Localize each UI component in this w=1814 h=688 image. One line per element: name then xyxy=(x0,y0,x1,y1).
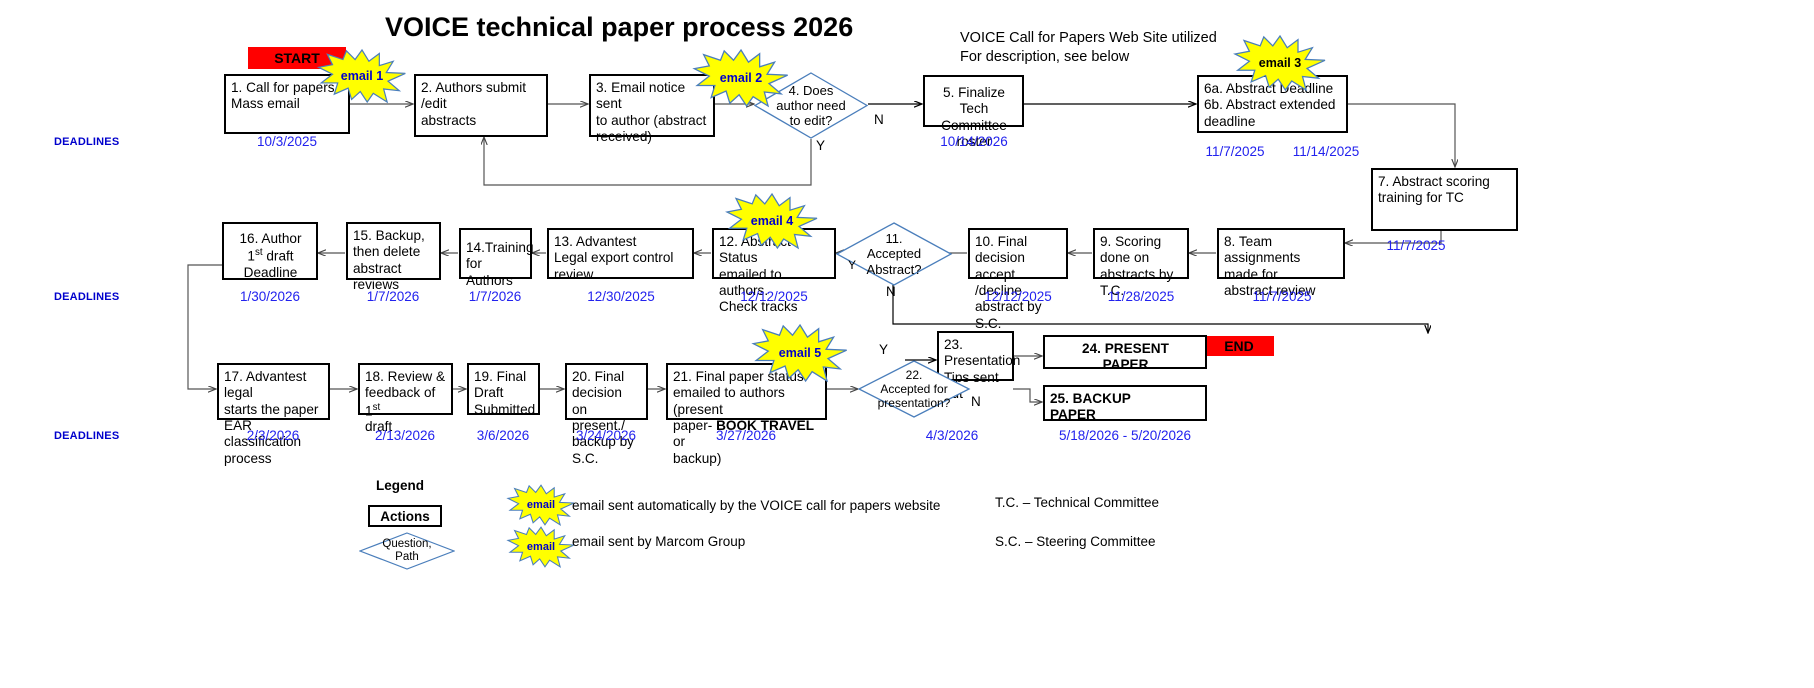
node-5[interactable]: 5. Finalize Tech Committee roster xyxy=(923,75,1024,127)
deadlines-label-row2: DEADLINES xyxy=(54,291,119,303)
website-note-line1: VOICE Call for Papers Web Site utilized xyxy=(960,29,1217,48)
node-7[interactable]: 7. Abstract scoring training for TC xyxy=(1371,168,1518,231)
date-node-19: 3/6/2026 xyxy=(466,428,540,443)
node-13-line1: 13. Advantest xyxy=(554,234,688,250)
date-node-5: 10/14/2026 xyxy=(920,134,1028,149)
node-15-line2: then delete xyxy=(353,244,435,260)
burst-email-1-label: email 1 xyxy=(318,50,406,102)
flowchart-canvas: VOICE technical paper process 2026 VOICE… xyxy=(0,0,1814,688)
edge-label-22-no: N xyxy=(971,394,981,409)
node-22-decision[interactable]: 22. Accepted for presentation? xyxy=(858,360,970,418)
node-4-line1: 4. Does xyxy=(789,83,834,98)
node-17-line4: process xyxy=(224,451,324,467)
page-title: VOICE technical paper process 2026 xyxy=(385,12,853,43)
node-16-line3: Deadline xyxy=(229,265,312,281)
node-9[interactable]: 9. Scoring done on abstracts by T.C. xyxy=(1093,228,1189,279)
node-4-line3: to edit? xyxy=(790,113,833,128)
node-17-line2: starts the paper xyxy=(224,402,324,418)
legend-title: Legend xyxy=(376,478,424,493)
date-node-9: 11/28/2025 xyxy=(1092,289,1190,304)
legend-marcom-email-text: email sent by Marcom Group xyxy=(572,534,745,549)
node-21-line2: emailed to authors (present xyxy=(673,385,821,418)
node-17[interactable]: 17. Advantest legal starts the paper EAR… xyxy=(217,363,330,420)
node-7-line1: 7. Abstract scoring xyxy=(1378,174,1512,190)
date-node-22: 4/3/2026 xyxy=(884,428,1020,443)
node-16-line2: 1st draft xyxy=(229,247,312,265)
node-22-line3: presentation? xyxy=(878,396,951,410)
legend-question-line2: Path xyxy=(395,551,419,564)
node-23-line1: 23. xyxy=(944,337,1008,353)
node-13[interactable]: 13. Advantest Legal export control revie… xyxy=(547,228,694,279)
date-node-8: 11/7/2025 xyxy=(1234,289,1330,304)
date-node-6b: 11/14/2025 xyxy=(1278,144,1374,159)
date-node-15: 1/7/2026 xyxy=(345,289,441,304)
edge-label-4-no: N xyxy=(874,112,884,127)
legend-burst-marcom-email: email xyxy=(508,527,574,567)
node-21-line4: backup) xyxy=(673,451,821,467)
node-16-line1: 16. Author xyxy=(229,231,312,247)
node-13-line3: review xyxy=(554,267,688,283)
node-19-line1: 19. Final Draft xyxy=(474,369,534,402)
node-3-line3: received) xyxy=(596,129,709,145)
date-node-10: 12/12/2025 xyxy=(968,289,1068,304)
node-18[interactable]: 18. Review & feedback of 1st draft xyxy=(358,363,453,415)
burst-email-2-label: email 2 xyxy=(693,50,789,112)
node-25[interactable]: 25. BACKUP PAPER xyxy=(1043,385,1207,421)
legend-abbrev-sc: S.C. – Steering Committee xyxy=(995,534,1156,549)
legend-question-diamond: Question, Path xyxy=(359,532,455,570)
date-node-6a: 11/7/2025 xyxy=(1190,144,1280,159)
burst-email-4-label: email 4 xyxy=(724,194,820,254)
burst-email-5: email 5 xyxy=(752,325,848,381)
burst-email-2: email 2 xyxy=(693,50,789,106)
end-terminator: END xyxy=(1204,336,1274,356)
date-node-14: 1/7/2026 xyxy=(456,289,534,304)
date-node-20: 3/24/2026 xyxy=(564,428,648,443)
node-9-line1: 9. Scoring xyxy=(1100,234,1183,250)
node-11-line3: Abstract? xyxy=(867,262,922,277)
date-node-1: 10/3/2025 xyxy=(227,134,347,149)
node-25-line2: PAPER xyxy=(1050,407,1201,423)
node-11-line1: 11. xyxy=(885,231,902,246)
burst-email-1: email 1 xyxy=(318,50,406,102)
legend-auto-email-text: email sent automatically by the VOICE ca… xyxy=(572,498,940,513)
node-10[interactable]: 10. Final decision accept /decline abstr… xyxy=(968,228,1068,279)
burst-email-5-label: email 5 xyxy=(752,325,848,389)
node-22-line2: Accepted for xyxy=(880,382,947,396)
node-20-line2: decision xyxy=(572,385,642,401)
edge-label-22-yes: Y xyxy=(879,342,888,357)
node-2-line1: 2. Authors submit /edit xyxy=(421,80,542,113)
node-10-line1: 10. Final decision xyxy=(975,234,1062,267)
node-22-line1: 22. xyxy=(906,368,923,382)
node-15-line3: abstract xyxy=(353,261,435,277)
edge-label-11-yes: Y xyxy=(848,258,856,272)
node-14[interactable]: 14.Training for Authors xyxy=(459,228,532,279)
node-20-line1: 20. Final xyxy=(572,369,642,385)
node-16[interactable]: 16. Author 1st draft Deadline xyxy=(222,222,318,280)
node-25-line1: 25. BACKUP xyxy=(1050,391,1201,407)
date-node-17: 2/3/2026 xyxy=(216,428,330,443)
node-8-line2: made for xyxy=(1224,267,1339,283)
deadlines-label-row1: DEADLINES xyxy=(54,136,119,148)
node-11-line2: Accepted xyxy=(867,246,921,261)
node-10-line3: abstract by S.C. xyxy=(975,299,1062,332)
node-14-line1: 14.Training xyxy=(466,240,526,256)
legend-burst-auto-email: email xyxy=(508,485,574,525)
node-2[interactable]: 2. Authors submit /edit abstracts xyxy=(414,74,548,137)
date-node-7: 11/7/2025 xyxy=(1370,238,1462,253)
legend-burst-marcom-label: email xyxy=(508,527,574,567)
node-13-line2: Legal export control xyxy=(554,250,688,266)
node-14-line2: for Authors xyxy=(466,256,526,289)
edge-label-4-yes: Y xyxy=(816,138,825,153)
node-19-line2: Submitted xyxy=(474,402,534,418)
node-8[interactable]: 8. Team assignments made for abstract re… xyxy=(1217,228,1345,279)
burst-email-3: email 3 xyxy=(1233,36,1327,90)
node-18-line2: feedback of 1st xyxy=(365,385,447,419)
legend-burst-auto-label: email xyxy=(508,485,574,525)
date-node-13: 12/30/2025 xyxy=(548,289,694,304)
node-6b-label2: deadline xyxy=(1204,114,1342,130)
website-note-line2: For description, see below xyxy=(960,48,1217,67)
node-6b-label: 6b. Abstract extended xyxy=(1204,97,1342,113)
node-11-decision[interactable]: 11. Accepted Abstract? xyxy=(836,222,952,286)
node-3-line2: to author (abstract xyxy=(596,113,709,129)
date-node-21: 3/27/2026 xyxy=(665,428,827,443)
date-node-12: 12/12/2025 xyxy=(712,289,836,304)
date-node-18: 2/13/2026 xyxy=(357,428,453,443)
node-20[interactable]: 20. Final decision on present./ backup b… xyxy=(565,363,648,420)
node-9-line3: abstracts by xyxy=(1100,267,1183,283)
node-24-line1: 24. PRESENT xyxy=(1050,341,1201,357)
node-18-line1: 18. Review & xyxy=(365,369,447,385)
legend-actions-box: Actions xyxy=(368,505,442,527)
node-5-line1: 5. Finalize Tech xyxy=(930,85,1018,118)
node-8-line1: 8. Team assignments xyxy=(1224,234,1339,267)
node-24-line2: PAPER xyxy=(1050,357,1201,373)
node-15[interactable]: 15. Backup, then delete abstract reviews xyxy=(346,222,441,280)
node-7-line2: training for TC xyxy=(1378,190,1512,206)
node-19[interactable]: 19. Final Draft Submitted xyxy=(467,363,540,415)
date-node-24: 5/18/2026 - 5/20/2026 xyxy=(1043,428,1207,443)
burst-email-4: email 4 xyxy=(724,194,820,248)
edge-label-11-no: N xyxy=(886,284,896,299)
deadlines-label-row3: DEADLINES xyxy=(54,430,119,442)
legend-abbrev-tc: T.C. – Technical Committee xyxy=(995,495,1159,510)
node-2-line2: abstracts xyxy=(421,113,542,129)
node-9-line2: done on xyxy=(1100,250,1183,266)
node-15-line1: 15. Backup, xyxy=(353,228,435,244)
website-note: VOICE Call for Papers Web Site utilized … xyxy=(960,29,1217,67)
burst-email-3-label: email 3 xyxy=(1233,36,1327,90)
node-17-line1: 17. Advantest legal xyxy=(224,369,324,402)
legend-question-line1: Question, xyxy=(382,538,431,551)
date-node-16: 1/30/2026 xyxy=(222,289,318,304)
node-24[interactable]: 24. PRESENT PAPER xyxy=(1043,335,1207,369)
